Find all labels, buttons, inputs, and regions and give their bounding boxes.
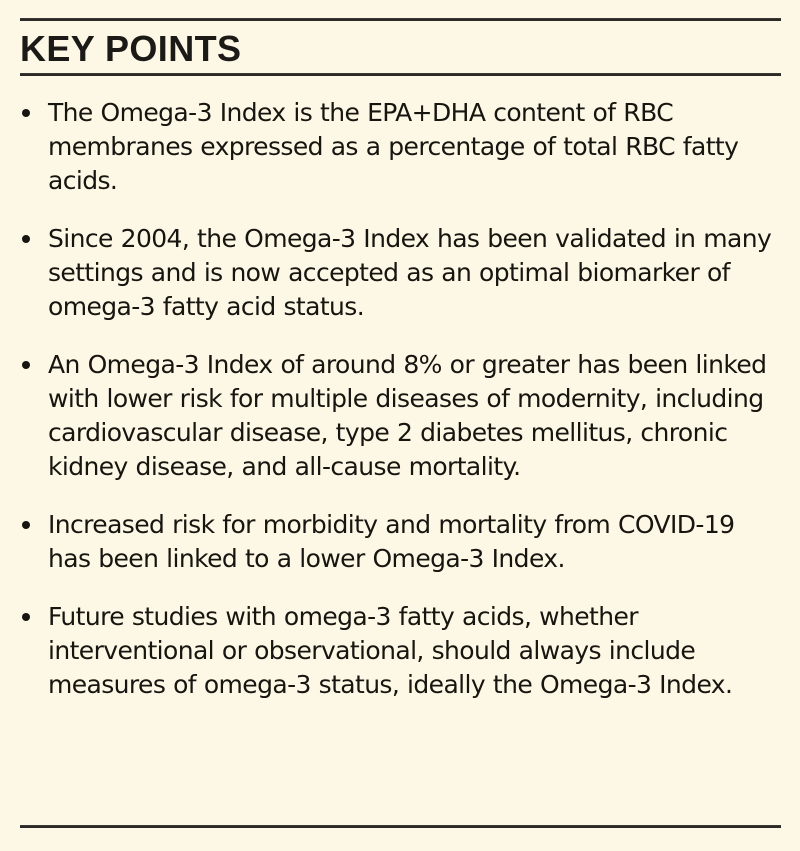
bullet-icon [22, 613, 30, 621]
bullet-icon [22, 521, 30, 529]
list-item: Increased risk for morbidity and mortali… [0, 508, 800, 576]
list-item: The Omega-3 Index is the EPA+DHA content… [0, 96, 800, 198]
key-point-text: An Omega-3 Index of around 8% or greater… [48, 348, 782, 484]
top-divider-rule [20, 18, 781, 21]
list-item: Since 2004, the Omega-3 Index has been v… [0, 222, 800, 324]
bullet-icon [22, 361, 30, 369]
key-point-text: Increased risk for morbidity and mortali… [48, 508, 782, 576]
title-underline-rule [20, 73, 781, 76]
key-point-text: The Omega-3 Index is the EPA+DHA content… [48, 96, 782, 198]
key-point-text: Since 2004, the Omega-3 Index has been v… [48, 222, 782, 324]
bottom-divider-rule [20, 825, 781, 828]
key-point-text: Future studies with omega-3 fatty acids,… [48, 600, 782, 702]
bullet-icon [22, 235, 30, 243]
bullet-icon [22, 109, 30, 117]
key-points-panel: KEY POINTS The Omega-3 Index is the EPA+… [0, 0, 800, 851]
key-points-list: The Omega-3 Index is the EPA+DHA content… [0, 96, 800, 702]
list-item: An Omega-3 Index of around 8% or greater… [0, 348, 800, 484]
list-item: Future studies with omega-3 fatty acids,… [0, 600, 800, 702]
page-title: KEY POINTS [20, 28, 241, 70]
